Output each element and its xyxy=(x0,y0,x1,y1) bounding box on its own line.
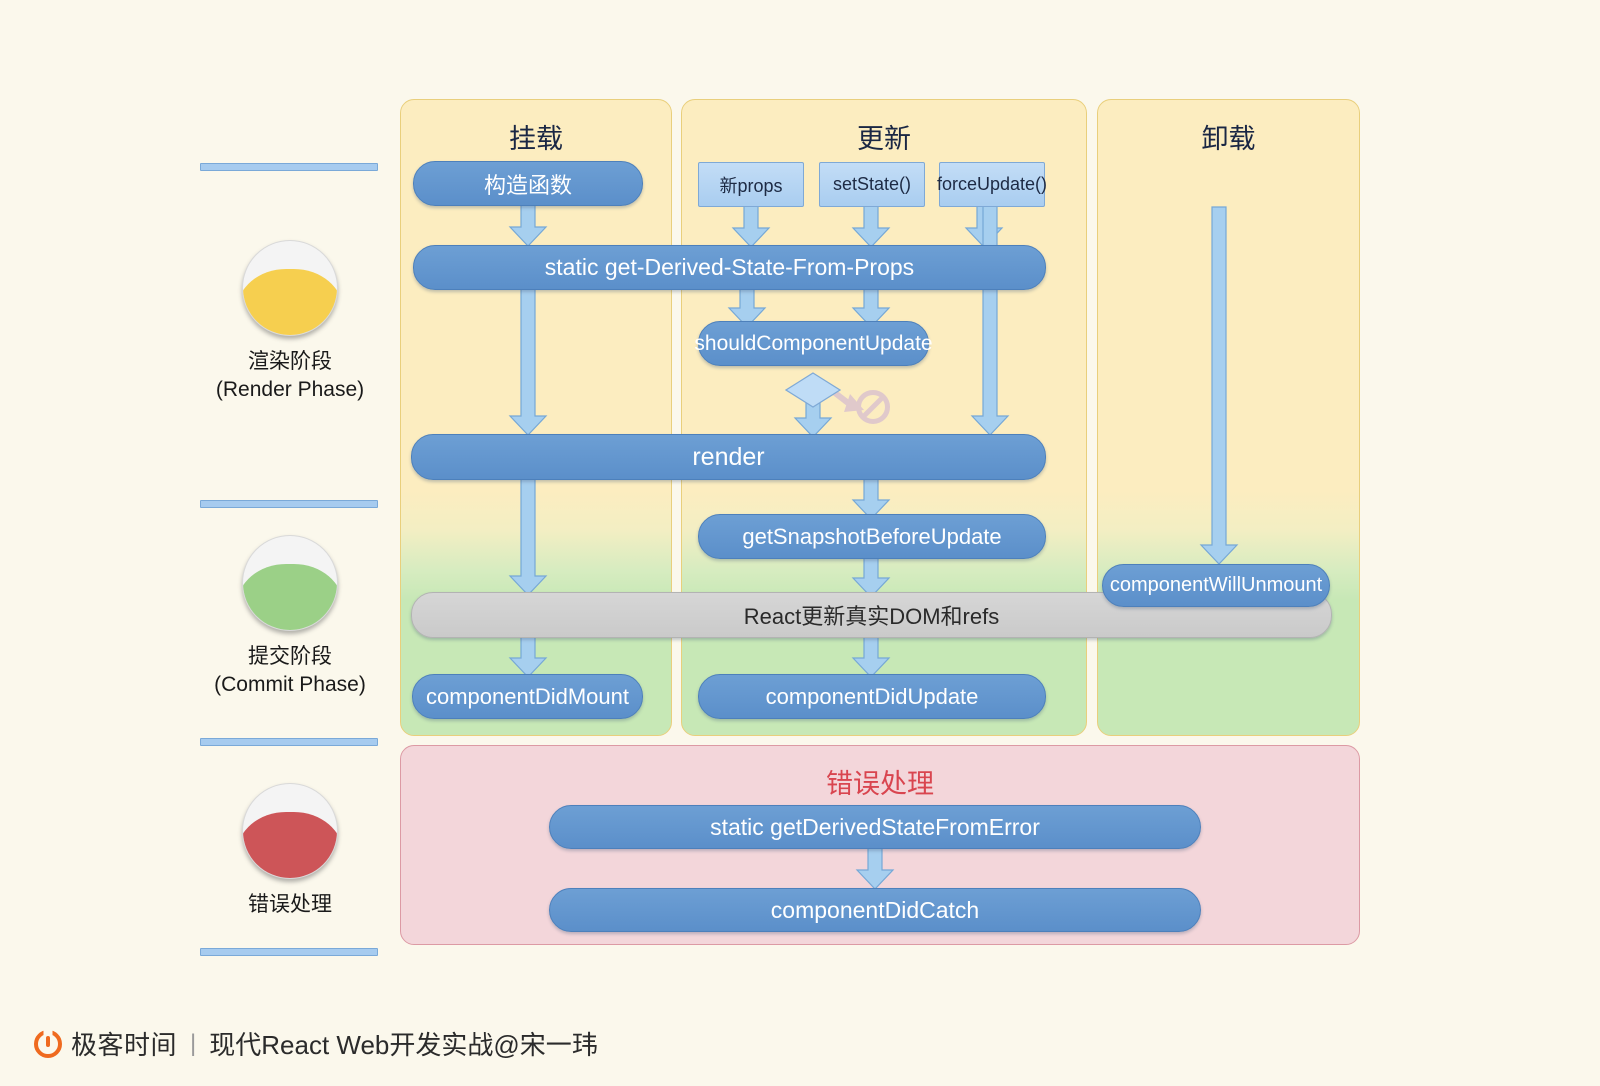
footer-course-title: 现代React Web开发实战@宋一玮 xyxy=(209,1025,598,1062)
error-panel-title: 错误处理 xyxy=(401,762,1359,801)
arrow-unmount-to-will-unmount xyxy=(1199,207,1239,565)
legend-label-commit-phase: 提交阶段 (Commit Phase) xyxy=(170,643,410,698)
rail-divider-3 xyxy=(200,738,378,746)
node-component-will-unmount[interactable]: componentWillUnmount xyxy=(1102,564,1330,607)
column-title-unmount: 卸载 xyxy=(1098,117,1359,156)
yellow-ball-icon xyxy=(242,240,338,336)
arrow-gdsfe-to-did-catch xyxy=(855,848,895,890)
rail-divider-4 xyxy=(200,948,378,956)
arrow-gdsfp-to-render-mount xyxy=(508,288,548,436)
arrow-dom-to-did-update xyxy=(851,636,891,678)
no-entry-icon xyxy=(856,390,890,424)
node-component-did-mount[interactable]: componentDidMount xyxy=(412,674,643,719)
node-get-snapshot-before-update[interactable]: getSnapshotBeforeUpdate xyxy=(698,514,1046,559)
node-new-props[interactable]: 新props xyxy=(698,162,804,207)
geekbang-logo-icon xyxy=(34,1030,62,1058)
footer-brand: 极客时间 xyxy=(71,1025,177,1062)
should-update-decision-diamond xyxy=(785,372,841,408)
red-ball-icon xyxy=(242,783,338,879)
arrow-new-props-to-gdsfp xyxy=(731,206,771,248)
arrow-render-to-dom-mount xyxy=(508,478,548,596)
node-get-derived-state-from-error[interactable]: static getDerivedStateFromError xyxy=(549,805,1201,849)
node-component-did-catch[interactable]: componentDidCatch xyxy=(549,888,1201,932)
arrow-force-update-bypass-to-render xyxy=(970,206,1010,436)
column-title-mount: 挂载 xyxy=(401,117,671,156)
arrow-dom-to-did-mount xyxy=(508,636,548,678)
column-title-update: 更新 xyxy=(682,117,1086,156)
rail-divider-1 xyxy=(200,163,378,171)
node-should-component-update[interactable]: shouldComponentUpdate xyxy=(698,321,929,366)
footer: 极客时间 | 现代React Web开发实战@宋一玮 xyxy=(34,1025,598,1062)
green-ball-icon xyxy=(242,535,338,631)
arrow-set-state-to-gdsfp xyxy=(851,206,891,248)
node-set-state[interactable]: setState() xyxy=(819,162,925,207)
diagram-canvas: 渲染阶段 (Render Phase) 提交阶段 (Commit Phase) … xyxy=(0,0,1600,1086)
legend-commit-phase: 提交阶段 (Commit Phase) xyxy=(170,535,410,698)
rail-divider-2 xyxy=(200,500,378,508)
node-get-derived-state-from-props[interactable]: static get-Derived-State-From-Props xyxy=(413,245,1046,290)
node-render[interactable]: render xyxy=(411,434,1046,480)
legend-label-render-phase: 渲染阶段 (Render Phase) xyxy=(170,348,410,403)
legend-error-handling: 错误处理 xyxy=(170,783,410,919)
footer-separator: | xyxy=(186,1030,200,1058)
arrow-constructor-to-gdsfp xyxy=(508,203,548,247)
legend-label-error-handling: 错误处理 xyxy=(170,891,410,919)
node-constructor[interactable]: 构造函数 xyxy=(413,161,643,206)
node-component-did-update[interactable]: componentDidUpdate xyxy=(698,674,1046,719)
legend-render-phase: 渲染阶段 (Render Phase) xyxy=(170,240,410,403)
node-force-update[interactable]: forceUpdate() xyxy=(939,162,1045,207)
